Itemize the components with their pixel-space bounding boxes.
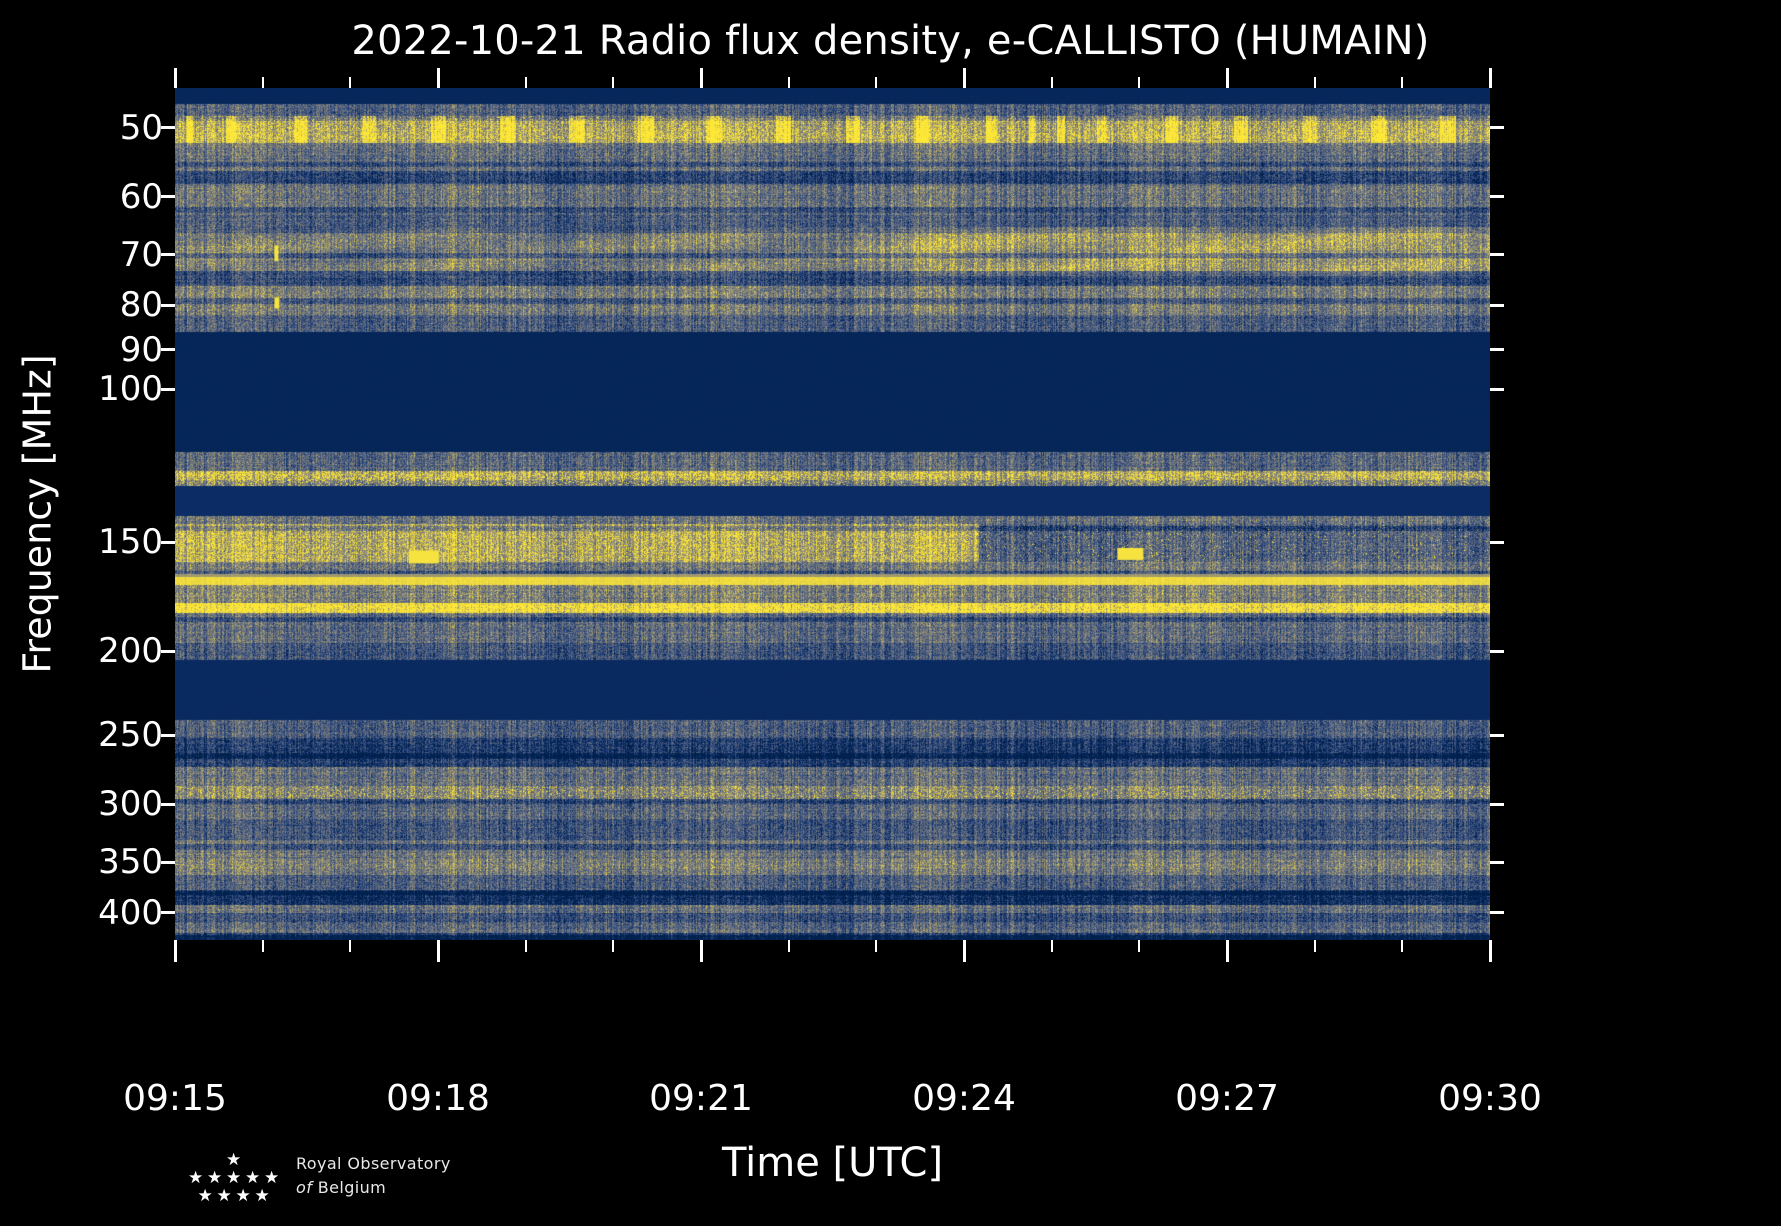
y-tick-major [161, 195, 175, 198]
spectrogram-image [175, 88, 1490, 940]
star-icon: ★ [226, 1170, 241, 1187]
star-icon: ★ [198, 1188, 213, 1205]
y-tick-major [161, 734, 175, 737]
x-tick-minor-top [788, 77, 790, 88]
x-tick-minor [1138, 940, 1140, 952]
spectrogram-figure: 2022-10-21 Radio flux density, e-CALLIST… [0, 0, 1781, 1226]
x-tick-major [1489, 940, 1492, 962]
x-tick-minor-top [1138, 77, 1140, 88]
x-tick-minor [875, 940, 877, 952]
star-icon: ★ [217, 1188, 232, 1205]
y-tick-label: 80 [120, 285, 163, 325]
y-tick-major-right [1490, 195, 1504, 198]
y-tick-label: 350 [98, 842, 163, 882]
y-tick-label: 400 [98, 893, 163, 933]
y-tick-major-right [1490, 650, 1504, 653]
y-tick-major [161, 911, 175, 914]
logo-line-2: of Belgium [296, 1178, 451, 1197]
x-tick-major-top [174, 68, 177, 88]
spectrogram-plot-area [175, 88, 1490, 940]
y-tick-label: 100 [98, 369, 163, 409]
x-tick-minor-top [875, 77, 877, 88]
x-tick-label: 09:18 [386, 1078, 490, 1119]
y-tick-major-right [1490, 388, 1504, 391]
x-tick-minor [262, 940, 264, 952]
logo-of-word: of [296, 1178, 312, 1197]
x-tick-major-top [1226, 68, 1229, 88]
star-icon: ★ [236, 1188, 251, 1205]
star-icon: ★ [255, 1188, 270, 1205]
star-icon: ★ [207, 1170, 222, 1187]
x-tick-minor-top [1051, 77, 1053, 88]
y-tick-label: 250 [98, 715, 163, 755]
y-tick-major-right [1490, 861, 1504, 864]
y-tick-major-right [1490, 911, 1504, 914]
x-tick-minor [612, 940, 614, 952]
logo-line-1: Royal Observatory [296, 1154, 451, 1173]
x-tick-major [437, 940, 440, 962]
y-tick-major [161, 541, 175, 544]
y-axis-title: Frequency [MHz] [10, 88, 66, 940]
y-axis-title-text: Frequency [MHz] [16, 354, 60, 673]
eu-stars-icon: ★★★★★★★★★★ [178, 1148, 288, 1204]
y-tick-major-right [1490, 126, 1504, 129]
x-tick-label: 09:24 [912, 1078, 1016, 1119]
x-tick-minor-top [262, 77, 264, 88]
x-tick-minor-top [612, 77, 614, 88]
y-tick-label: 50 [120, 108, 163, 148]
x-tick-minor [1401, 940, 1403, 952]
star-icon: ★ [264, 1170, 279, 1187]
x-tick-major [963, 940, 966, 962]
figure-title: 2022-10-21 Radio flux density, e-CALLIST… [0, 18, 1781, 64]
x-tick-major [1226, 940, 1229, 962]
y-tick-major [161, 650, 175, 653]
y-tick-major [161, 803, 175, 806]
star-icon: ★ [226, 1152, 241, 1169]
x-tick-major [700, 940, 703, 962]
x-tick-label: 09:27 [1175, 1078, 1279, 1119]
x-tick-major-top [1489, 68, 1492, 88]
y-tick-major-right [1490, 541, 1504, 544]
logo-belgium-word: Belgium [318, 1178, 386, 1197]
x-tick-minor-top [525, 77, 527, 88]
x-tick-major-top [437, 68, 440, 88]
y-tick-major [161, 348, 175, 351]
x-tick-label: 09:30 [1438, 1078, 1542, 1119]
x-tick-minor [349, 940, 351, 952]
x-tick-major-top [963, 68, 966, 88]
y-tick-major [161, 253, 175, 256]
x-tick-minor-top [349, 77, 351, 88]
x-tick-label: 09:21 [649, 1078, 753, 1119]
x-tick-minor [525, 940, 527, 952]
x-tick-minor-top [1401, 77, 1403, 88]
x-tick-major-top [700, 68, 703, 88]
x-tick-major [174, 940, 177, 962]
star-icon: ★ [188, 1170, 203, 1187]
y-tick-major [161, 126, 175, 129]
y-tick-label: 60 [120, 177, 163, 217]
y-tick-label: 200 [98, 631, 163, 671]
x-tick-minor [1051, 940, 1053, 952]
y-tick-label: 70 [120, 235, 163, 275]
y-tick-major-right [1490, 803, 1504, 806]
x-tick-label: 09:15 [123, 1078, 227, 1119]
y-tick-major [161, 861, 175, 864]
royal-observatory-logo: ★★★★★★★★★★ Royal Observatory of Belgium [178, 1148, 598, 1212]
logo-text: Royal Observatory of Belgium [296, 1154, 451, 1197]
y-tick-major [161, 304, 175, 307]
y-tick-label: 90 [120, 330, 163, 370]
y-tick-major-right [1490, 253, 1504, 256]
y-tick-major-right [1490, 304, 1504, 307]
x-tick-minor-top [1314, 77, 1316, 88]
star-icon: ★ [245, 1170, 260, 1187]
y-tick-label: 300 [98, 784, 163, 824]
y-tick-major [161, 388, 175, 391]
y-tick-major-right [1490, 348, 1504, 351]
y-tick-label: 150 [98, 522, 163, 562]
x-tick-minor [788, 940, 790, 952]
x-tick-minor [1314, 940, 1316, 952]
y-tick-major-right [1490, 734, 1504, 737]
